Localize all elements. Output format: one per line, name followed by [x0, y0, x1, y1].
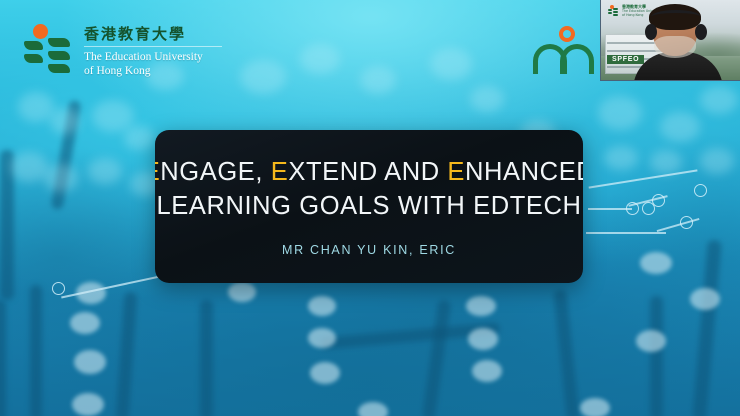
- circuit-pad: [308, 296, 336, 316]
- circuit-pad: [358, 402, 388, 416]
- presenter-video-tile[interactable]: 香港教育大學 The Education University of Hong …: [600, 0, 740, 81]
- circuit-pad: [580, 398, 610, 416]
- circuit-node: [652, 194, 665, 207]
- title-card: ENGAGE, EXTEND AND ENHANCED LEARNING GOA…: [155, 130, 583, 283]
- title-highlight-4: E: [447, 158, 465, 186]
- bokeh-circle: [124, 126, 154, 150]
- circuit-node: [694, 184, 707, 197]
- face-mask-icon: [654, 36, 696, 58]
- title-text-3: XTEND AND: [288, 158, 447, 186]
- bokeh-circle: [360, 66, 396, 94]
- circuit-pad: [310, 362, 340, 384]
- circuit-trace: [30, 285, 42, 416]
- circuit-pad: [466, 296, 496, 316]
- circuit-pad: [636, 330, 666, 352]
- bokeh-circle: [18, 92, 54, 122]
- circuit-trace: [200, 300, 213, 416]
- eduhk-mark-icon-small: [608, 5, 619, 17]
- title-line-1: ENGAGE, EXTEND AND ENHANCED: [155, 156, 583, 190]
- circuit-node: [52, 282, 65, 295]
- circuit-pad: [640, 252, 672, 274]
- sun-icon: [33, 24, 48, 39]
- bokeh-circle: [92, 100, 134, 132]
- circuit-pad: [72, 393, 104, 416]
- circuit-pad: [468, 328, 498, 350]
- bokeh-circle: [650, 150, 682, 174]
- presenter-figure: [635, 8, 719, 80]
- circuit-pad: [228, 282, 256, 302]
- bokeh-circle: [88, 158, 122, 184]
- bokeh-circle: [700, 148, 734, 174]
- presenter-name: MR CHAN YU KIN, ERIC: [282, 243, 456, 257]
- headphone-earcup-right-icon: [695, 24, 707, 40]
- circuit-trace-light: [586, 232, 666, 234]
- bokeh-circle: [50, 108, 80, 134]
- arch-shape-right: [560, 44, 594, 74]
- bokeh-circle: [10, 152, 48, 182]
- circuit-pad: [70, 312, 100, 334]
- bokeh-circle: [430, 48, 472, 80]
- eduhk-mark-icon: [24, 24, 72, 76]
- bokeh-circle: [660, 112, 700, 142]
- circuit-trace: [0, 300, 6, 416]
- logo-divider: [84, 46, 222, 47]
- title-text-1: NGAGE,: [160, 158, 270, 186]
- circuit-node: [626, 202, 639, 215]
- bokeh-circle: [300, 44, 340, 74]
- bokeh-circle: [604, 146, 638, 170]
- headphone-band-icon: [651, 10, 701, 24]
- bokeh-circle: [470, 86, 504, 112]
- orange-ring-icon: [559, 26, 575, 42]
- presentation-screen: 香港教育大學 The Education University of Hong …: [0, 0, 740, 416]
- title-text-5: NHANCED: [465, 158, 583, 186]
- institution-name-zh: 香港教育大學: [84, 26, 222, 43]
- bokeh-circle: [700, 86, 738, 114]
- circuit-trace: [650, 296, 663, 416]
- institution-name-en-line1: The Education University: [84, 50, 222, 64]
- circuit-pad: [690, 288, 720, 310]
- eduhk-logo: 香港教育大學 The Education University of Hong …: [24, 24, 222, 78]
- circuit-pad: [308, 328, 336, 348]
- title-line-2: LEARNING GOALS WITH EDTECH: [156, 190, 581, 224]
- title-highlight-2: E: [271, 158, 289, 186]
- bokeh-circle: [598, 96, 642, 130]
- headphone-earcup-left-icon: [645, 24, 657, 40]
- bokeh-circle: [240, 60, 286, 94]
- circuit-pad: [74, 350, 106, 374]
- institution-name-en-line2: of Hong Kong: [84, 64, 222, 78]
- arch-sun-logo-icon: [533, 26, 595, 76]
- circuit-node: [680, 216, 693, 229]
- bokeh-circle: [44, 164, 78, 192]
- circuit-pad: [472, 360, 502, 382]
